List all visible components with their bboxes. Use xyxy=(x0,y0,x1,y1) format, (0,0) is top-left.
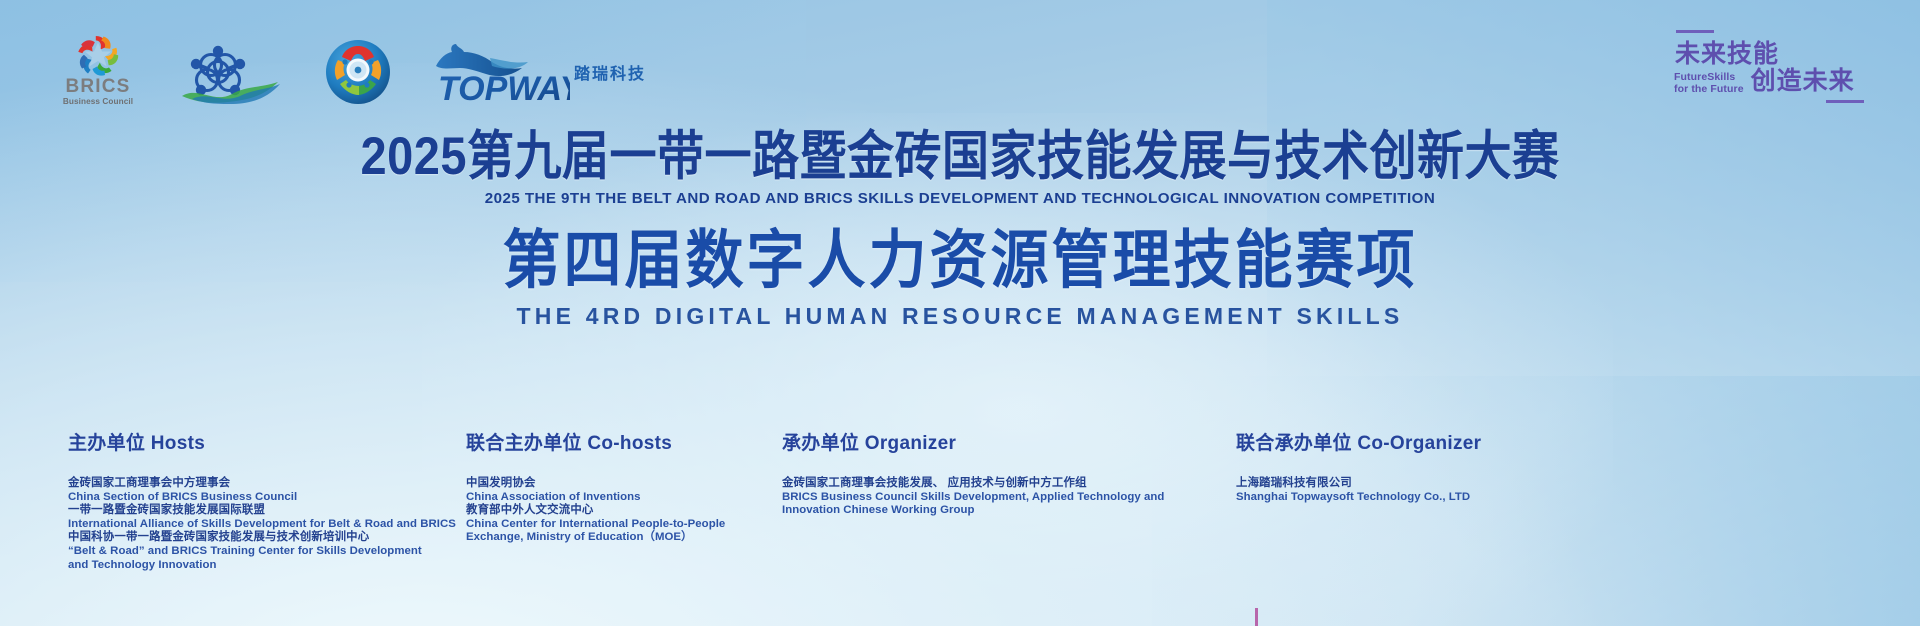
org-title: 承办单位 Organizer xyxy=(782,428,1182,455)
org-line: 金砖国家工商理事会中方理事会 xyxy=(68,477,488,491)
future-skills-block: 未来技能 FutureSkills for the Future 创造未来 xyxy=(1674,30,1864,103)
future-skills-en: FutureSkills for the Future xyxy=(1674,71,1744,95)
org-lines: 金砖国家工商理事会中方理事会 China Section of BRICS Bu… xyxy=(68,477,488,572)
poster-canvas: BRICS Business Council xyxy=(0,0,1920,626)
org-title: 联合承办单位 Co-Organizer xyxy=(1236,428,1616,455)
org-lines: 中国发明协会 China Association of Inventions 教… xyxy=(466,477,826,545)
org-line: 上海踏瑞科技有限公司 xyxy=(1236,477,1616,491)
future-skills-rule-bottom xyxy=(1826,100,1864,103)
org-title: 主办单位 Hosts xyxy=(68,428,488,455)
org-line: 中国科协一带一路暨金砖国家技能发展与技术创新培训中心 xyxy=(68,531,488,545)
org-line: 金砖国家工商理事会技能发展、 应用技术与创新中方工作组 xyxy=(782,477,1182,491)
organizations-section: 主办单位 Hosts 金砖国家工商理事会中方理事会 China Section … xyxy=(0,428,1920,608)
org-line: International Alliance of Skills Develop… xyxy=(68,518,488,532)
alliance-nodes-icon xyxy=(191,46,245,95)
org-line: Exchange, Ministry of Education（MOE） xyxy=(466,531,826,545)
org-line: Shanghai Topwaysoft Technology Co., LTD xyxy=(1236,491,1616,505)
org-line: and Technology Innovation xyxy=(68,559,488,573)
topway-logo: TOPWAY 踏瑞科技 xyxy=(430,40,646,106)
future-skills-cn-bottom: 创造未来 xyxy=(1751,67,1855,95)
future-skills-rule-top xyxy=(1676,30,1714,33)
org-column-hosts: 主办单位 Hosts 金砖国家工商理事会中方理事会 China Section … xyxy=(68,428,488,572)
svg-text:TOPWAY: TOPWAY xyxy=(438,70,570,106)
competition-title-en: 2025 THE 9TH THE BELT AND ROAD AND BRICS… xyxy=(5,190,1915,207)
future-skills-en-line2: for the Future xyxy=(1674,83,1744,95)
org-line: BRICS Business Council Skills Developmen… xyxy=(782,491,1182,505)
org-line: 中国发明协会 xyxy=(466,477,826,491)
international-alliance-logo xyxy=(174,42,286,106)
bottom-center-tick-mark xyxy=(1255,608,1258,626)
org-line: “Belt & Road” and BRICS Training Center … xyxy=(68,545,488,559)
org-column-organizer: 承办单位 Organizer 金砖国家工商理事会技能发展、 应用技术与创新中方工… xyxy=(782,428,1182,518)
org-column-co-hosts: 联合主办单位 Co-hosts 中国发明协会 China Association… xyxy=(466,428,826,545)
org-column-co-organizer: 联合承办单位 Co-Organizer 上海踏瑞科技有限公司 Shanghai … xyxy=(1236,428,1616,504)
org-line: Innovation Chinese Working Group xyxy=(782,504,1182,518)
org-title: 联合主办单位 Co-hosts xyxy=(466,428,826,455)
competition-title-cn: 2025第九届一带一路暨金砖国家技能发展与技术创新大赛 xyxy=(0,127,1920,185)
org-lines: 上海踏瑞科技有限公司 Shanghai Topwaysoft Technolog… xyxy=(1236,477,1616,504)
skills-emblem-logo xyxy=(324,38,392,106)
headline-block: 2025第九届一带一路暨金砖国家技能发展与技术创新大赛 2025 THE 9TH… xyxy=(0,130,1920,330)
org-line: China Center for International People-to… xyxy=(466,518,826,532)
org-line: 教育部中外人文交流中心 xyxy=(466,504,826,518)
brics-logo-wordmark: BRICS xyxy=(65,77,130,96)
event-title-en: THE 4RD DIGITAL HUMAN RESOURCE MANAGEMEN… xyxy=(0,303,1920,330)
sponsor-logo-strip: BRICS Business Council xyxy=(60,32,646,106)
future-skills-en-line1: FutureSkills xyxy=(1674,71,1744,83)
org-lines: 金砖国家工商理事会技能发展、 应用技术与创新中方工作组 BRICS Busine… xyxy=(782,477,1182,518)
topway-chinese-name: 踏瑞科技 xyxy=(574,60,646,84)
org-line: 一带一路暨金砖国家技能发展国际联盟 xyxy=(68,504,488,518)
topway-dragon-wordmark: TOPWAY xyxy=(430,40,570,106)
event-title-cn: 第四届数字人力资源管理技能赛项 xyxy=(0,226,1920,296)
future-skills-cn-top: 未来技能 xyxy=(1675,39,1864,69)
org-line: China Association of Inventions xyxy=(466,491,826,505)
brics-logo-tagline: Business Council xyxy=(63,97,133,106)
brics-star-icon xyxy=(75,32,121,76)
org-line: China Section of BRICS Business Council xyxy=(68,491,488,505)
brics-business-council-logo: BRICS Business Council xyxy=(60,32,136,106)
